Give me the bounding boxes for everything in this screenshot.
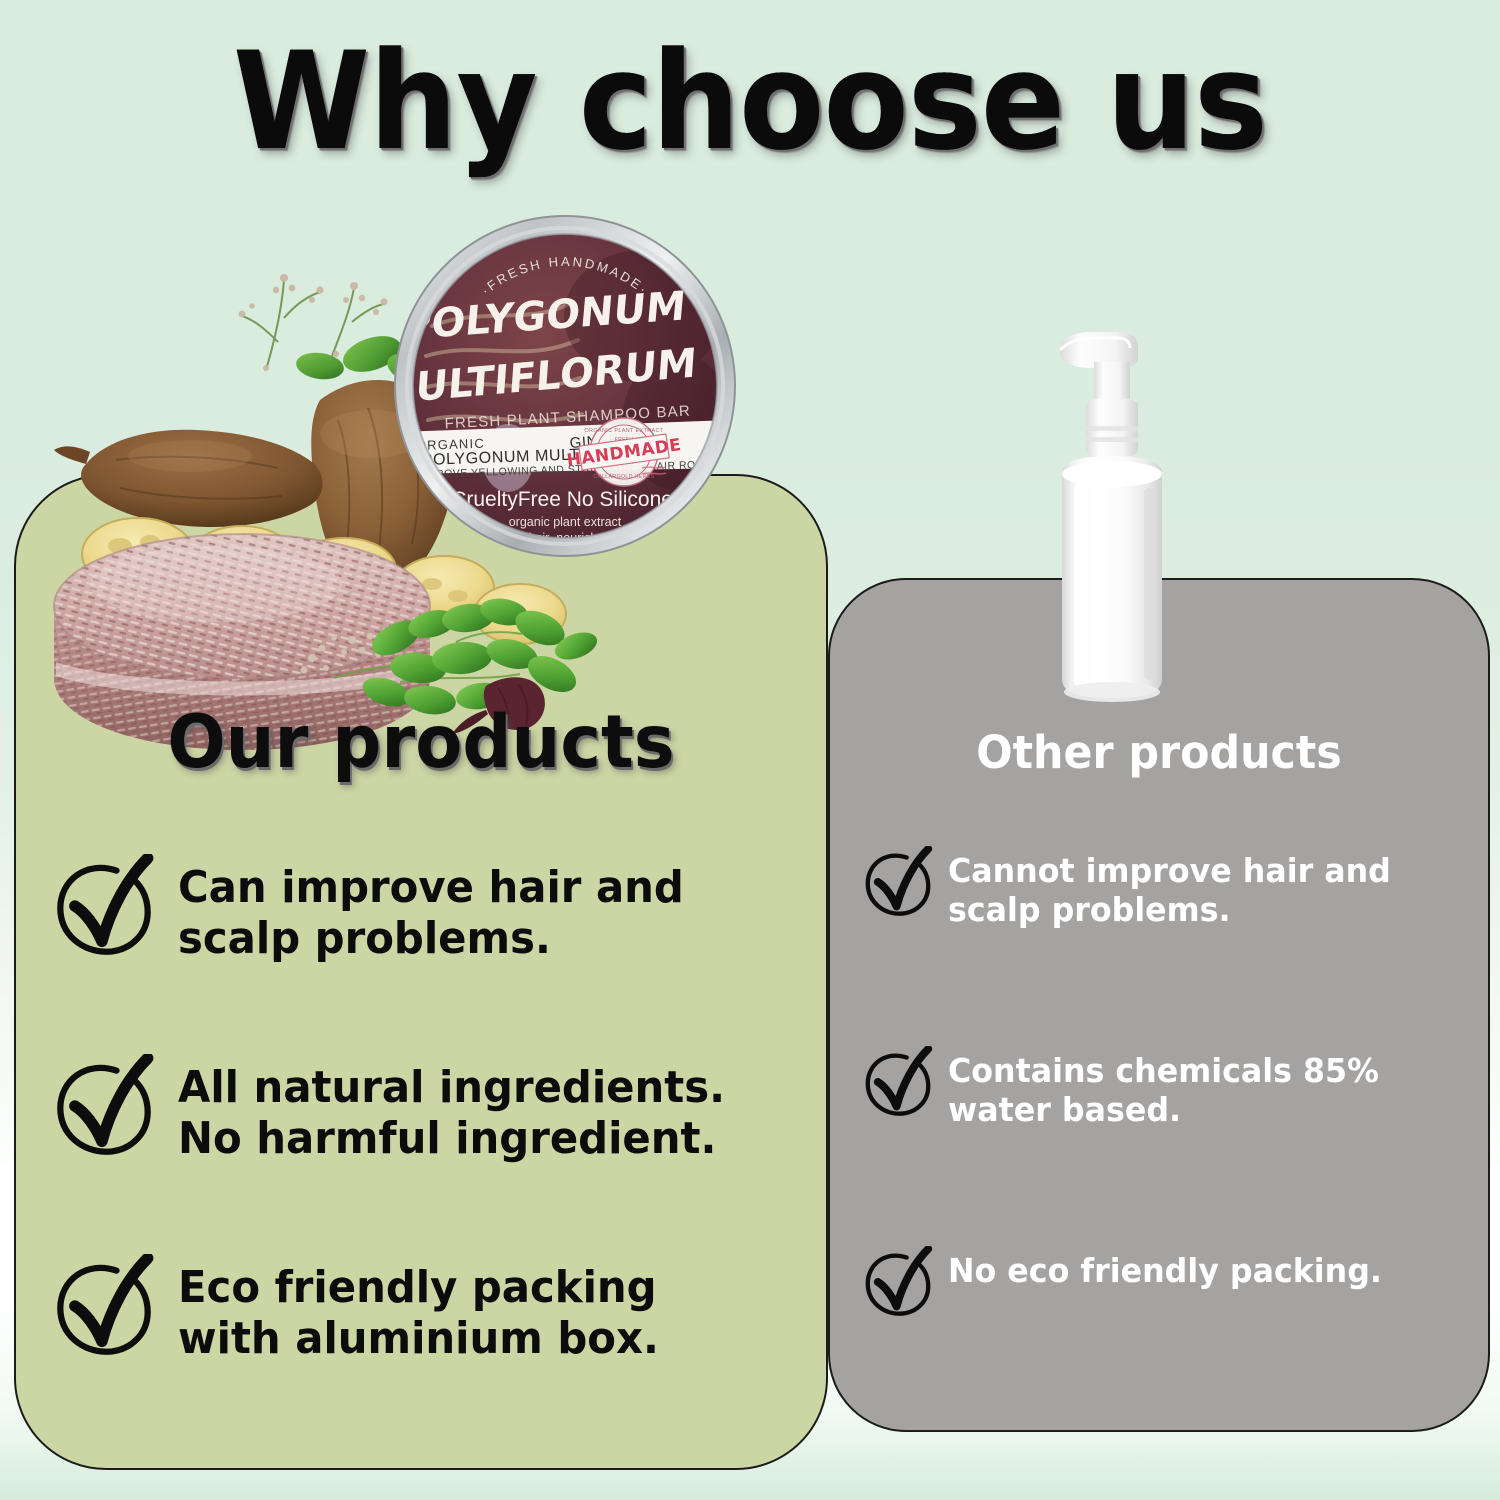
our-products-heading: Our products	[38, 700, 803, 785]
check-circle-icon	[52, 1254, 156, 1358]
check-circle-icon	[862, 846, 934, 918]
list-item-line1: Eco friendly packing	[178, 1262, 659, 1313]
badge-bottom-text: COLLARGOLD HERBS	[593, 474, 654, 480]
other-products-heading: Other products	[845, 726, 1474, 779]
check-circle-icon	[52, 1054, 156, 1158]
tin-net-weight: e 60 g (1.92 oz)	[519, 566, 610, 581]
list-item-line1: Contains chemicals 85%	[948, 1052, 1379, 1091]
page-title: Why choose us	[233, 34, 1267, 169]
product-tin: ·FRESH HANDMADE· POLYGONUM MULTIFLORUM F…	[392, 206, 738, 586]
infographic-canvas: Why choose us	[0, 0, 1500, 1500]
list-item-text: Cannot improve hair and scalp problems.	[948, 852, 1391, 930]
list-item-text: No eco friendly packing.	[948, 1252, 1382, 1291]
list-item: Cannot improve hair and scalp problems.	[862, 852, 1472, 930]
list-item-line2: scalp problems.	[948, 891, 1391, 930]
list-item-line2: No harmful ingredient.	[178, 1113, 725, 1164]
list-item-line1: Cannot improve hair and	[948, 852, 1391, 891]
list-item-text: All natural ingredients. No harmful ingr…	[178, 1062, 725, 1164]
list-item-text: Eco friendly packing with aluminium box.	[178, 1262, 659, 1364]
list-item-line1: Can improve hair and	[178, 862, 684, 913]
page-title-wrap: Why choose us	[0, 34, 1500, 169]
list-item-line1: No eco friendly packing.	[948, 1252, 1382, 1291]
list-item: Contains chemicals 85% water based.	[862, 1052, 1472, 1130]
list-item-text: Contains chemicals 85% water based.	[948, 1052, 1379, 1130]
check-circle-icon	[52, 854, 156, 958]
list-item: Eco friendly packing with aluminium box.	[52, 1262, 812, 1364]
pump-bottle	[1046, 306, 1192, 710]
other-products-list: Cannot improve hair and scalp problems. …	[862, 852, 1472, 1318]
list-item-line2: scalp problems.	[178, 913, 684, 964]
list-item-line2: with aluminium box.	[178, 1313, 659, 1364]
tin-detail-1: organic plant extract	[509, 515, 622, 529]
list-item: All natural ingredients. No harmful ingr…	[52, 1062, 812, 1164]
list-item: Can improve hair and scalp problems.	[52, 862, 812, 964]
flower-cluster	[300, 633, 381, 674]
root-small	[54, 430, 323, 527]
check-circle-icon	[862, 1046, 934, 1118]
our-products-list: Can improve hair and scalp problems. All…	[52, 862, 812, 1364]
badge-top-text: ORGANIC PLANT EXTRACT	[585, 428, 664, 434]
list-item: No eco friendly packing.	[862, 1252, 1472, 1318]
list-item-line1: All natural ingredients.	[178, 1062, 725, 1113]
list-item-text: Can improve hair and scalp problems.	[178, 862, 684, 964]
list-item-line2: water based.	[948, 1091, 1379, 1130]
check-circle-icon	[862, 1246, 934, 1318]
